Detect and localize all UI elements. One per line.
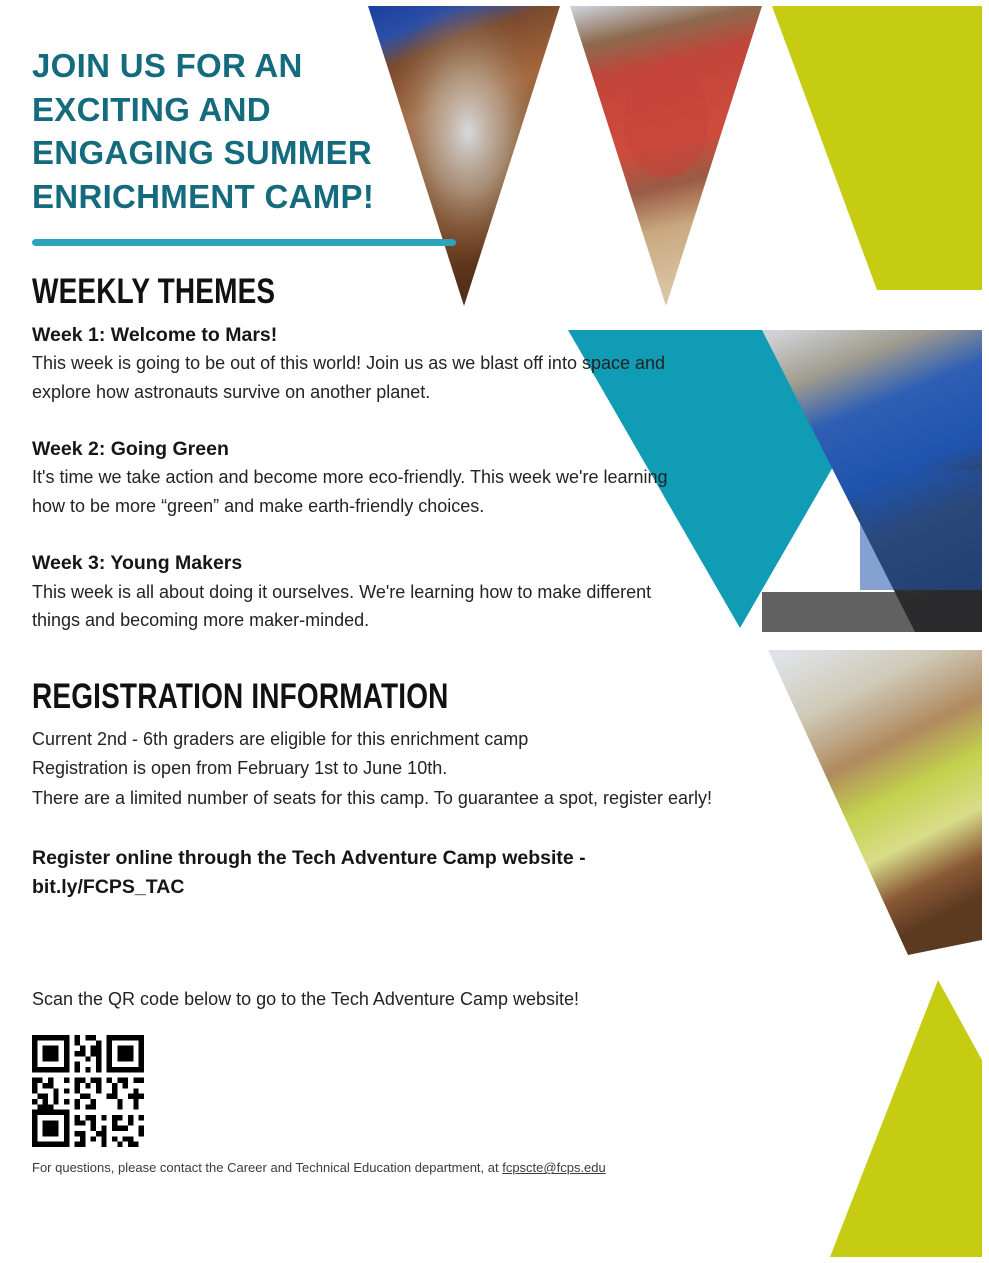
registration-line-2: Registration is open from February 1st t… <box>32 754 752 783</box>
lime-triangle-top-right <box>772 6 982 290</box>
footer-contact: For questions, please contact the Career… <box>32 1159 760 1177</box>
photo-triangle-boys-makers <box>762 330 982 632</box>
qr-code[interactable] <box>32 1035 144 1147</box>
page-title: JOIN US FOR AN EXCITING AND ENGAGING SUM… <box>32 44 452 218</box>
week-3-body: This week is all about doing it ourselve… <box>32 578 672 635</box>
week-block-2: Week 2: Going Green It's time we take ac… <box>32 436 672 520</box>
section-title-weekly-themes: WEEKLY THEMES <box>32 274 614 311</box>
week-1-body: This week is going to be out of this wor… <box>32 349 672 406</box>
flyer-page: JOIN US FOR AN EXCITING AND ENGAGING SUM… <box>0 0 989 1263</box>
registration-details: Current 2nd - 6th graders are eligible f… <box>32 725 752 812</box>
week-block-3: Week 3: Young Makers This week is all ab… <box>32 550 672 634</box>
qr-scan-instruction: Scan the QR code below to go to the Tech… <box>32 986 760 1013</box>
section-title-registration-information: REGISTRATION INFORMATION <box>32 679 614 716</box>
week-2-body: It's time we take action and become more… <box>32 463 672 520</box>
week-1-heading: Week 1: Welcome to Mars! <box>32 322 672 348</box>
photo-triangle-apple-slices <box>768 650 982 955</box>
footer-email-link[interactable]: fcpscte@fcps.edu <box>502 1160 606 1175</box>
week-2-heading: Week 2: Going Green <box>32 436 672 462</box>
week-block-1: Week 1: Welcome to Mars! This week is go… <box>32 322 672 406</box>
registration-cta[interactable]: Register online through the Tech Adventu… <box>32 844 712 903</box>
title-underline-rule <box>32 239 456 246</box>
footer-text: For questions, please contact the Career… <box>32 1160 502 1175</box>
registration-line-1: Current 2nd - 6th graders are eligible f… <box>32 725 752 754</box>
content-column: JOIN US FOR AN EXCITING AND ENGAGING SUM… <box>0 0 760 1177</box>
week-3-heading: Week 3: Young Makers <box>32 550 672 576</box>
registration-line-3: There are a limited number of seats for … <box>32 784 752 813</box>
lime-triangle-bottom-right <box>830 980 982 1257</box>
